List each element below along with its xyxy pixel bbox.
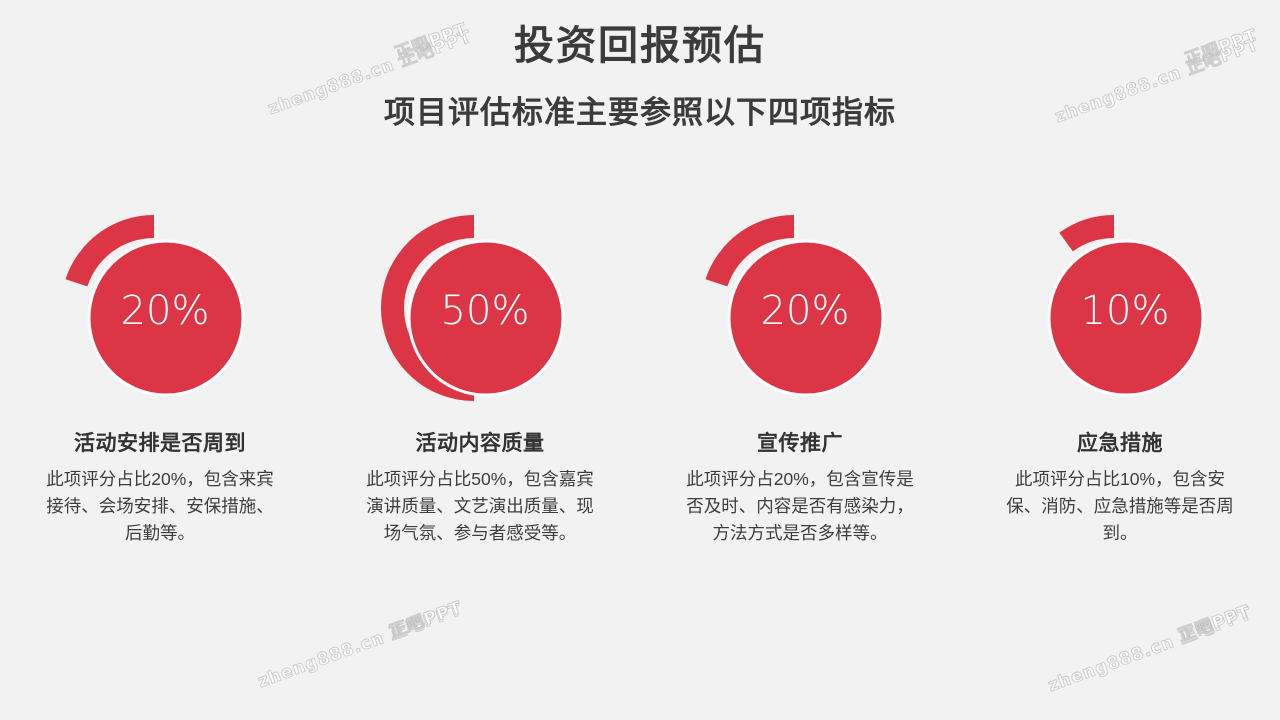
page-subtitle: 项目评估标准主要参照以下四项指标	[0, 70, 1280, 131]
metric-title-4: 应急措施	[1077, 431, 1163, 456]
page-title: 投资回报预估	[0, 0, 1280, 70]
watermark: 正吧PPT	[386, 593, 466, 642]
metric-column-1[interactable]: 20% 活动安排是否周到 此项评分占比20%，包含来宾接待、会场安排、安保措施、…	[0, 190, 320, 548]
watermark: 正吧PPT	[1174, 597, 1254, 646]
donut-chart-4: 10%	[1010, 190, 1230, 405]
donut-svg-1	[50, 190, 270, 405]
metric-body-4: 此项评分占比10%，包含安保、消防、应急措施等是否周到。	[999, 466, 1241, 547]
metric-column-3[interactable]: 20% 宣传推广 此项评分占20%，包含宣传是否及时、内容是否有感染力，方法方式…	[640, 190, 960, 548]
metric-title-1: 活动安排是否周到	[74, 431, 246, 456]
donut-disc-2	[409, 241, 563, 395]
donut-svg-2	[370, 190, 590, 405]
metric-column-4[interactable]: 10% 应急措施 此项评分占比10%，包含安保、消防、应急措施等是否周到。	[960, 190, 1280, 548]
donut-disc-1	[89, 241, 243, 395]
title-block: 投资回报预估 项目评估标准主要参照以下四项指标	[0, 0, 1280, 131]
donut-svg-4	[1010, 190, 1230, 405]
metric-body-2: 此项评分占比50%，包含嘉宾演讲质量、文艺演出质量、现场气氛、参与者感受等。	[359, 466, 601, 547]
watermark: zheng888.cn 正吧PPT	[1044, 599, 1255, 696]
metrics-row: 20% 活动安排是否周到 此项评分占比20%，包含来宾接待、会场安排、安保措施、…	[0, 190, 1280, 548]
slide-canvas: 投资回报预估 项目评估标准主要参照以下四项指标 20% 活动安排是否周到 此项评…	[0, 0, 1280, 720]
metric-title-3: 宣传推广	[757, 431, 843, 456]
watermark: zheng888.cn 正吧PPT	[254, 595, 465, 692]
donut-chart-2: 50%	[370, 190, 590, 405]
donut-svg-3	[690, 190, 910, 405]
donut-disc-4	[1049, 241, 1203, 395]
metric-body-1: 此项评分占比20%，包含来宾接待、会场安排、安保措施、后勤等。	[39, 466, 281, 547]
donut-chart-1: 20%	[50, 190, 270, 405]
metric-body-3: 此项评分占20%，包含宣传是否及时、内容是否有感染力，方法方式是否多样等。	[679, 466, 921, 547]
donut-disc-3	[729, 241, 883, 395]
metric-column-2[interactable]: 50% 活动内容质量 此项评分占比50%，包含嘉宾演讲质量、文艺演出质量、现场气…	[320, 190, 640, 548]
metric-title-2: 活动内容质量	[416, 431, 545, 456]
donut-chart-3: 20%	[690, 190, 910, 405]
